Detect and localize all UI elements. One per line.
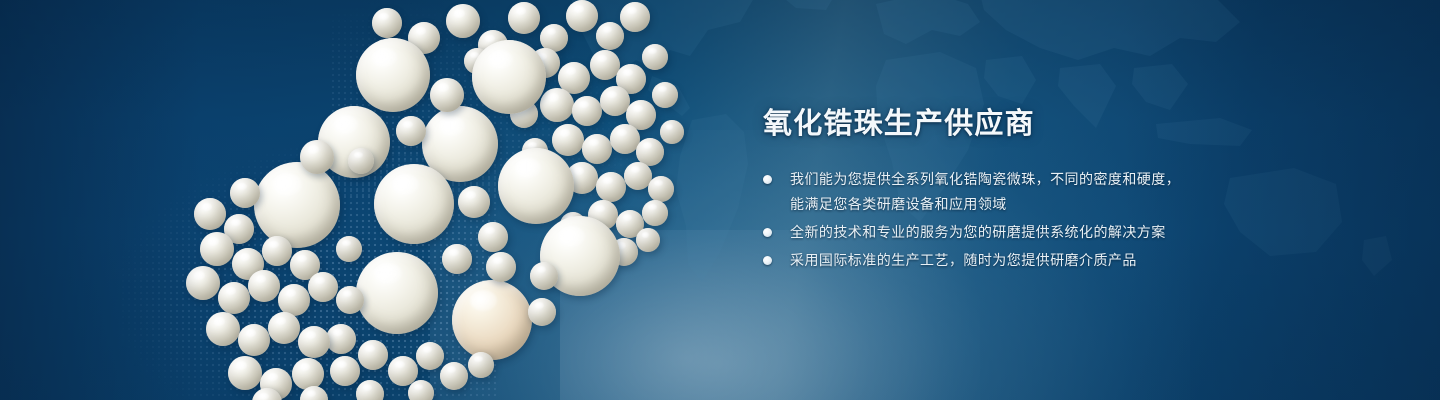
list-item: 采用国际标准的生产工艺，随时为您提供研磨介质产品 — [763, 248, 1383, 273]
list-item-line-1: 采用国际标准的生产工艺，随时为您提供研磨介质产品 — [790, 252, 1137, 268]
banner-copy: 氧化锆珠生产供应商 我们能为您提供全系列氧化锆陶瓷微珠，不同的密度和硬度， 能满… — [763, 106, 1383, 276]
list-item-line-2: 能满足您各类研磨设备和应用领域 — [790, 192, 1383, 217]
bullet-dot-icon — [763, 175, 772, 184]
hero-banner: 氧化锆珠生产供应商 我们能为您提供全系列氧化锆陶瓷微珠，不同的密度和硬度， 能满… — [0, 0, 1440, 400]
list-item-line-1: 全新的技术和专业的服务为您的研磨提供系统化的解决方案 — [790, 224, 1166, 240]
list-item: 全新的技术和专业的服务为您的研磨提供系统化的解决方案 — [763, 220, 1383, 245]
banner-feature-list: 我们能为您提供全系列氧化锆陶瓷微珠，不同的密度和硬度， 能满足您各类研磨设备和应… — [763, 167, 1383, 273]
list-item-line-1: 我们能为您提供全系列氧化锆陶瓷微珠，不同的密度和硬度， — [790, 171, 1180, 187]
bullet-dot-icon — [763, 228, 772, 237]
bullet-dot-icon — [763, 256, 772, 265]
banner-headline: 氧化锆珠生产供应商 — [763, 106, 1383, 142]
list-item: 我们能为您提供全系列氧化锆陶瓷微珠，不同的密度和硬度， 能满足您各类研磨设备和应… — [763, 167, 1383, 217]
